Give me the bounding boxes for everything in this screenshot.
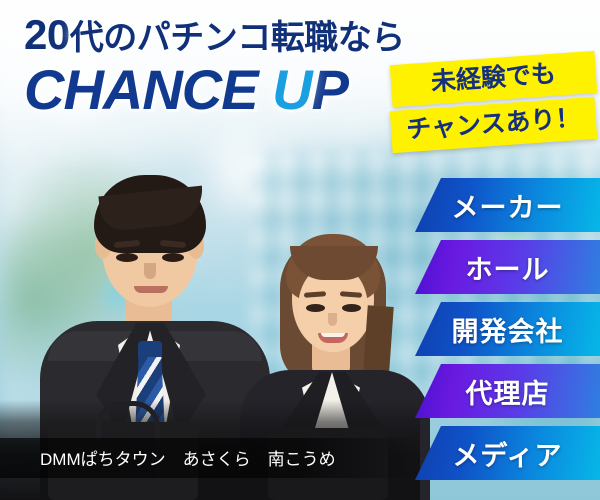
headline-age-number: 20 [24,11,70,58]
businessman-mouth [134,286,168,293]
badge-chance-available: チャンスあり！ [390,97,597,153]
businessman-nose [144,263,156,279]
ad-banner[interactable]: 20代のパチンコ転職なら CHANCE UP 未経験でも チャンスあり！ メーカ… [0,0,600,500]
category-button-media[interactable]: メディア [415,426,600,480]
category-button-list: メーカー ホール 開発会社 代理店 メディア [415,178,600,488]
headline-tagline: 20代のパチンコ転職なら [24,14,444,56]
category-button-agency[interactable]: 代理店 [415,364,600,418]
briefcase-handle [96,401,160,440]
businesswoman-eye-left [306,304,325,312]
businesswoman-eye-right [342,304,361,312]
businessman-eye-left [116,253,138,262]
businesswoman-teeth [321,333,345,337]
credit-bar: DMMぱちタウン あさくら 南こうめ [0,438,420,478]
businessman-eye-right [162,253,184,262]
headline-tagline-text: 代のパチンコ転職なら [70,19,405,57]
promo-badge-group: 未経験でも チャンスあり！ [391,58,596,146]
businesswoman-nose [328,313,337,326]
logo-u-accent: U [272,58,311,121]
logo-p-text: P [312,58,348,121]
category-button-hall[interactable]: ホール [415,240,600,294]
category-button-developer[interactable]: 開発会社 [415,302,600,356]
logo-chance-up: CHANCE UP [24,62,444,118]
category-button-maker[interactable]: メーカー [415,178,600,232]
headline-block: 20代のパチンコ転職なら CHANCE UP [24,14,444,118]
logo-chance-text: CHANCE [24,58,272,121]
